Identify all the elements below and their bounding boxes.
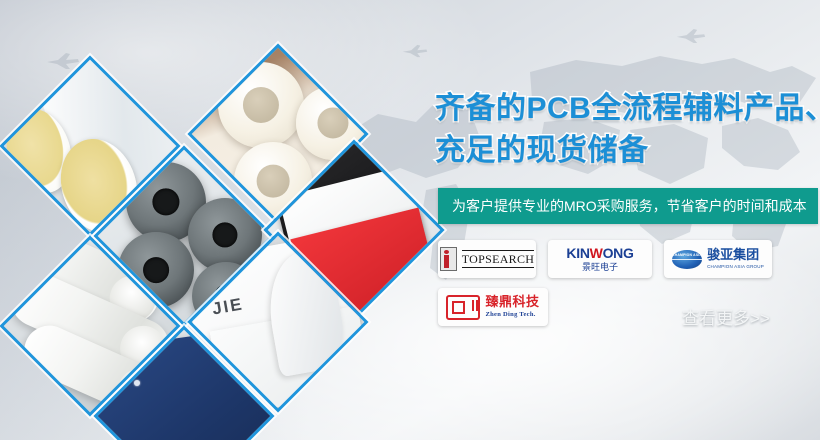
headline-line-1: 齐备的PCB全流程辅料产品、 bbox=[435, 88, 820, 130]
banner-content: 齐备的PCB全流程辅料产品、 充足的现货储备 为客户提供专业的MRO采购服务，节… bbox=[432, 0, 820, 440]
logo-kinwong-text-head: KIN bbox=[566, 245, 589, 261]
logo-zhen-ding-cn: 臻鼎科技 bbox=[485, 296, 539, 309]
logo-kinwong[interactable]: KINWONG 景旺电子 bbox=[548, 240, 652, 278]
logo-champion-asia-cn: 骏亚集团 bbox=[707, 249, 764, 262]
logo-topsearch-text: TOPSEARCH bbox=[462, 250, 535, 268]
view-more-link[interactable]: 查看更多>> bbox=[682, 310, 770, 327]
logo-champion-asia-en: CHAMPION ASIA GROUP bbox=[707, 265, 764, 270]
logo-kinwong-wordmark: KINWONG bbox=[566, 246, 633, 260]
logo-zhen-ding-en: Zhen Ding Tech. bbox=[485, 312, 539, 319]
logo-zhen-ding[interactable]: 臻鼎科技 Zhen Ding Tech. bbox=[438, 288, 548, 326]
headline-line-2: 充足的现货储备 bbox=[435, 130, 820, 172]
logo-champion-asia[interactable]: 骏亚集团 CHAMPION ASIA GROUP bbox=[664, 240, 772, 278]
logo-kinwong-cn: 景旺电子 bbox=[566, 263, 633, 272]
logo-kinwong-text-accent: W bbox=[590, 245, 603, 261]
globe-icon bbox=[672, 250, 702, 269]
partner-logo-row-1: TOPSEARCH KINWONG 景旺电子 骏亚集团 CHAMPION ASI bbox=[438, 240, 820, 278]
logo-kinwong-text-tail: ONG bbox=[603, 245, 634, 261]
zhending-mark-icon bbox=[446, 295, 480, 320]
product-tile-grid: JIE bbox=[0, 0, 440, 440]
headline: 齐备的PCB全流程辅料产品、 充足的现货储备 bbox=[435, 88, 820, 172]
promo-banner: JIE 齐备的PCB全流程辅料产品、 充足的现货储备 为客户提供专业的MRO采购… bbox=[0, 0, 820, 440]
logo-topsearch[interactable]: TOPSEARCH bbox=[438, 240, 536, 278]
subtitle-bar: 为客户提供专业的MRO采购服务，节省客户的时间和成本 bbox=[438, 188, 818, 224]
subtitle-text: 为客户提供专业的MRO采购服务，节省客户的时间和成本 bbox=[438, 199, 807, 213]
topsearch-mark-icon bbox=[440, 247, 457, 271]
